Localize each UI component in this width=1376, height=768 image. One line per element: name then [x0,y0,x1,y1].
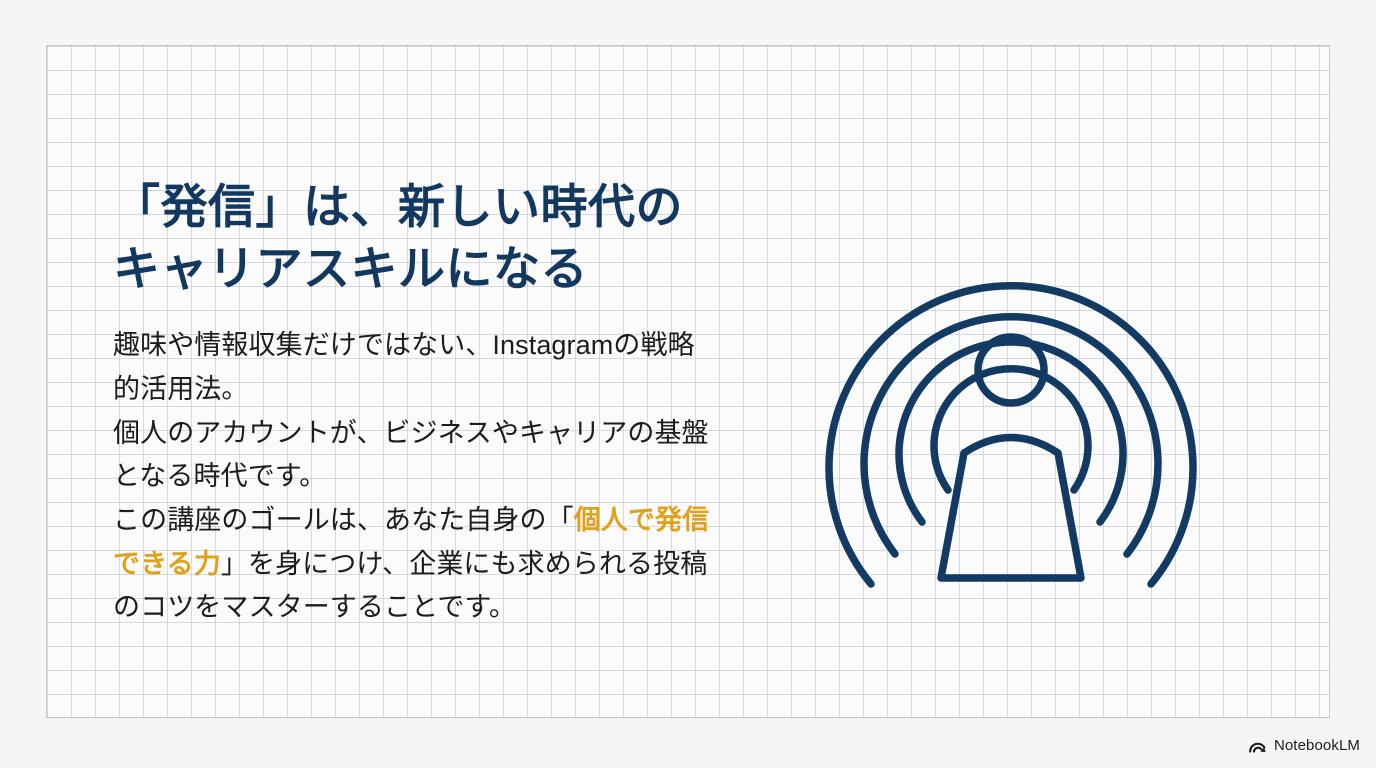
body-copy: 趣味や情報収集だけではない、Instagramの戦略 的活用法。 個人のアカウン… [113,324,773,630]
body-line-6: できる力」を身につけ、企業にも求められる投稿 [113,543,773,587]
body-line-5-prefix: この講座のゴールは、あなた自身の「 [113,505,574,535]
notebooklm-label: NotebookLM [1274,737,1360,754]
body-line-4: となる時代です。 [113,455,773,499]
broadcast-antenna-icon [796,128,1226,598]
text-column: 「発信」は、新しい時代の キャリアスキルになる 趣味や情報収集だけではない、In… [113,176,773,630]
body-line-1: 趣味や情報収集だけではない、Instagramの戦略 [113,324,773,368]
notebooklm-arc-icon [1248,738,1267,753]
notebooklm-watermark: NotebookLM [1248,737,1360,754]
body-line-3: 個人のアカウントが、ビジネスやキャリアの基盤 [113,412,773,456]
antenna-tower-base [941,438,1081,579]
body-line-6-suffix: 」を身につけ、企業にも求められる投稿 [221,549,707,579]
highlight-phrase-part1: 個人で発信 [574,505,710,535]
page-title: 「発信」は、新しい時代の キャリアスキルになる [113,176,773,300]
slide-canvas: 「発信」は、新しい時代の キャリアスキルになる 趣味や情報収集だけではない、In… [0,0,1376,768]
body-line-2: 的活用法。 [113,368,773,412]
body-line-5: この講座のゴールは、あなた自身の「個人で発信 [113,499,773,543]
body-line-7: のコツをマスターすることです。 [113,586,773,630]
highlight-phrase-part2: できる力 [113,549,221,579]
